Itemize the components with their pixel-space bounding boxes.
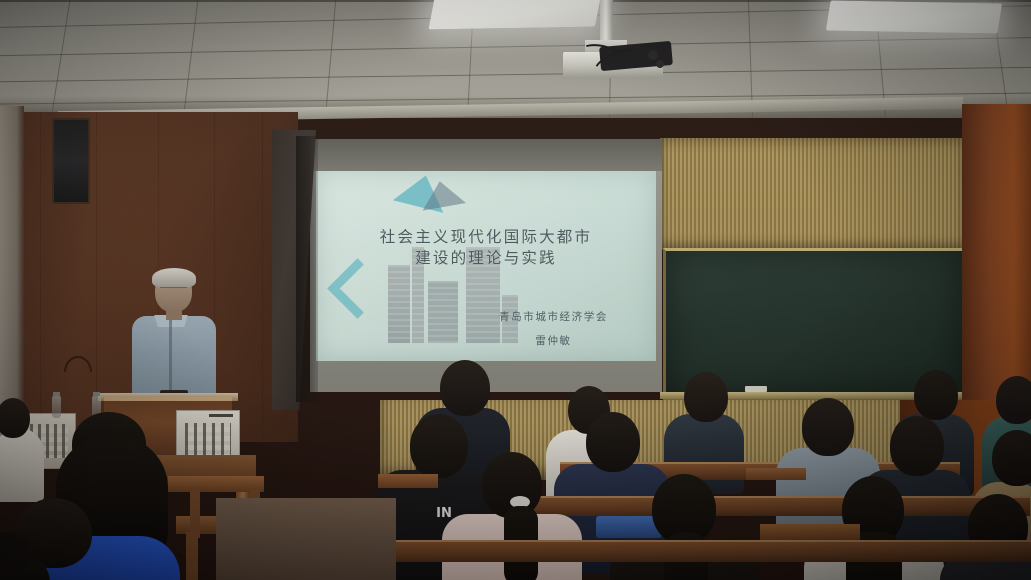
projector-pole xyxy=(600,0,613,44)
slide-title-line2: 建设的理论与实践 xyxy=(316,248,656,269)
water-bottle-1 xyxy=(52,396,61,418)
student-head xyxy=(586,412,640,472)
ceiling-light-right xyxy=(826,0,1002,33)
student-head xyxy=(890,416,944,476)
student-head xyxy=(410,414,468,478)
student-head xyxy=(684,372,728,422)
student-body xyxy=(0,428,44,502)
student-head xyxy=(996,376,1031,424)
audience-bench-near xyxy=(376,540,1031,562)
slat-wall-upper xyxy=(660,138,965,250)
projector-knob xyxy=(648,50,658,60)
student-head xyxy=(802,398,854,456)
student-head xyxy=(440,360,490,416)
slide-title-line1: 社会主义现代化国际大都市 xyxy=(316,227,656,248)
floor-left xyxy=(216,498,396,580)
student-head xyxy=(992,430,1031,486)
presenter-glasses-icon xyxy=(160,287,187,294)
projector-knob-2 xyxy=(656,60,664,68)
student-head xyxy=(914,370,958,420)
chalk-piece xyxy=(745,386,767,392)
presenter xyxy=(120,268,230,408)
projection-screen: 社会主义现代化国际大都市 建设的理论与实践 青岛市城市经济学会 雷仲敏 xyxy=(316,171,656,361)
slide-building-1 xyxy=(388,265,410,343)
wall-corner-edge xyxy=(0,106,24,446)
wall-speaker xyxy=(52,118,90,204)
slide-speaker-name: 雷仲敏 xyxy=(456,333,651,348)
desk-ledge-near-right xyxy=(760,524,860,540)
left-desk-leg-3 xyxy=(186,532,198,580)
screen-top-bar xyxy=(310,139,662,171)
lecture-hall-photo: 社会主义现代化国际大都市 建设的理论与实践 青岛市城市经济学会 雷仲敏 xyxy=(0,0,1031,580)
desk-ledge-mid-left xyxy=(378,474,438,488)
slide-title: 社会主义现代化国际大都市 建设的理论与实践 xyxy=(316,227,656,269)
presenter-hair xyxy=(152,268,196,288)
slide-building-3 xyxy=(428,281,458,343)
projection-screen-frame: 社会主义现代化国际大都市 建设的理论与实践 青岛市城市经济学会 雷仲敏 xyxy=(310,139,662,392)
left-desk-leg-1 xyxy=(190,490,200,538)
desk-ledge-mid-right xyxy=(746,468,806,480)
student-head xyxy=(0,398,30,438)
ceiling-light-center xyxy=(428,0,601,29)
slide-organization: 青岛市城市经济学会 xyxy=(456,309,651,324)
stage-curtain-fold xyxy=(296,136,318,402)
